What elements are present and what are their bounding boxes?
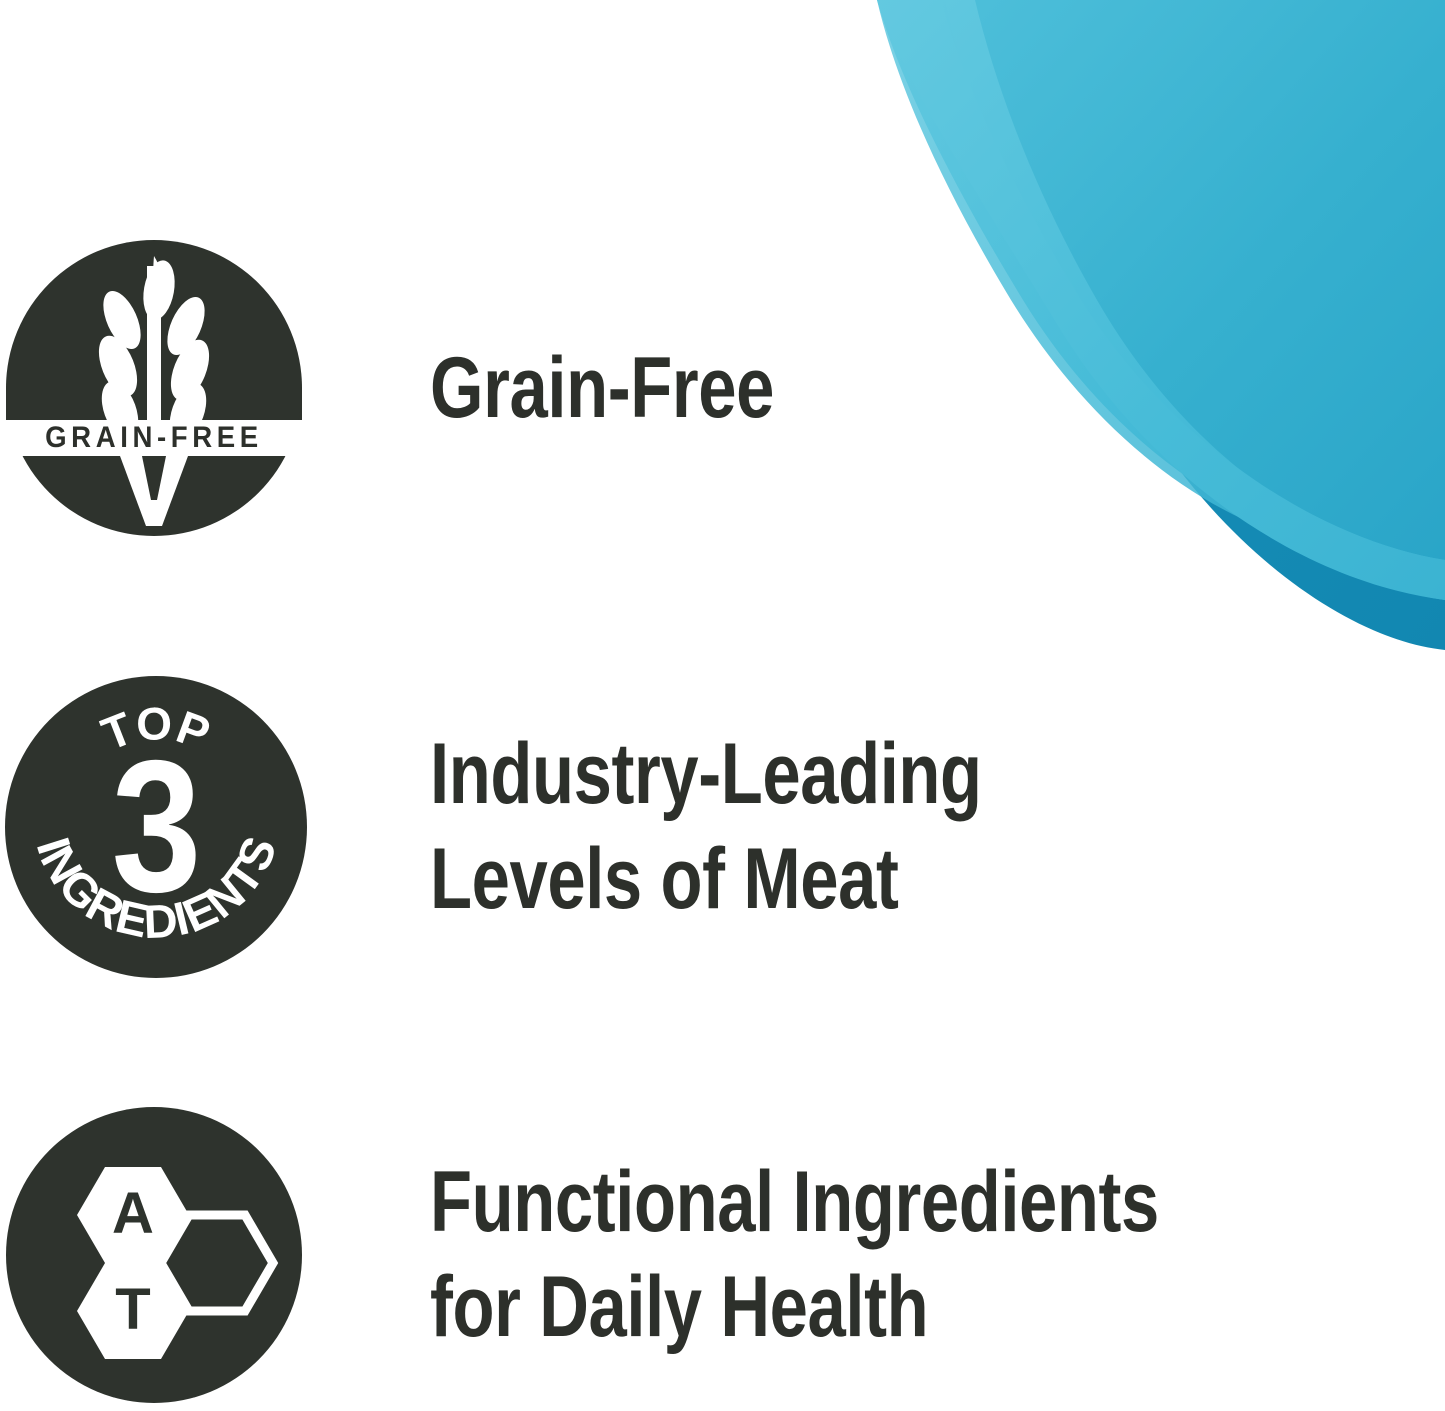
grain-free-seal-icon: GRAIN-FREE bbox=[4, 238, 304, 538]
feature-label: Functional Ingredients for Daily Health bbox=[430, 1150, 1159, 1360]
feature-panel: GRAIN-FREE Grain-Free TOP bbox=[0, 0, 1445, 1411]
functional-ingredients-badge: A T bbox=[4, 1105, 304, 1405]
grain-free-badge: GRAIN-FREE bbox=[4, 238, 304, 538]
feature-label: Grain-Free bbox=[430, 336, 774, 441]
ingredient-count-number: 3 bbox=[25, 731, 287, 921]
badge-slot: GRAIN-FREE bbox=[0, 232, 320, 544]
hexagon-t-label: T bbox=[115, 1277, 150, 1342]
hexagon-cluster-seal-icon: A T bbox=[4, 1105, 304, 1405]
feature-label: Industry-Leading Levels of Meat bbox=[430, 722, 982, 932]
badge-slot: TOP INGREDIENTS 3 bbox=[0, 668, 320, 986]
grain-free-banner-text: GRAIN-FREE bbox=[45, 421, 263, 454]
feature-row: TOP INGREDIENTS 3 Industry-Leading Level… bbox=[0, 668, 1445, 986]
feature-row: GRAIN-FREE Grain-Free bbox=[0, 232, 1445, 544]
badge-slot: A T bbox=[0, 1098, 320, 1411]
top-3-ingredients-badge: TOP INGREDIENTS 3 bbox=[4, 675, 309, 980]
hexagon-a-label: A bbox=[112, 1181, 154, 1246]
feature-row: A T Functional Ingredients for Daily Hea… bbox=[0, 1098, 1445, 1411]
